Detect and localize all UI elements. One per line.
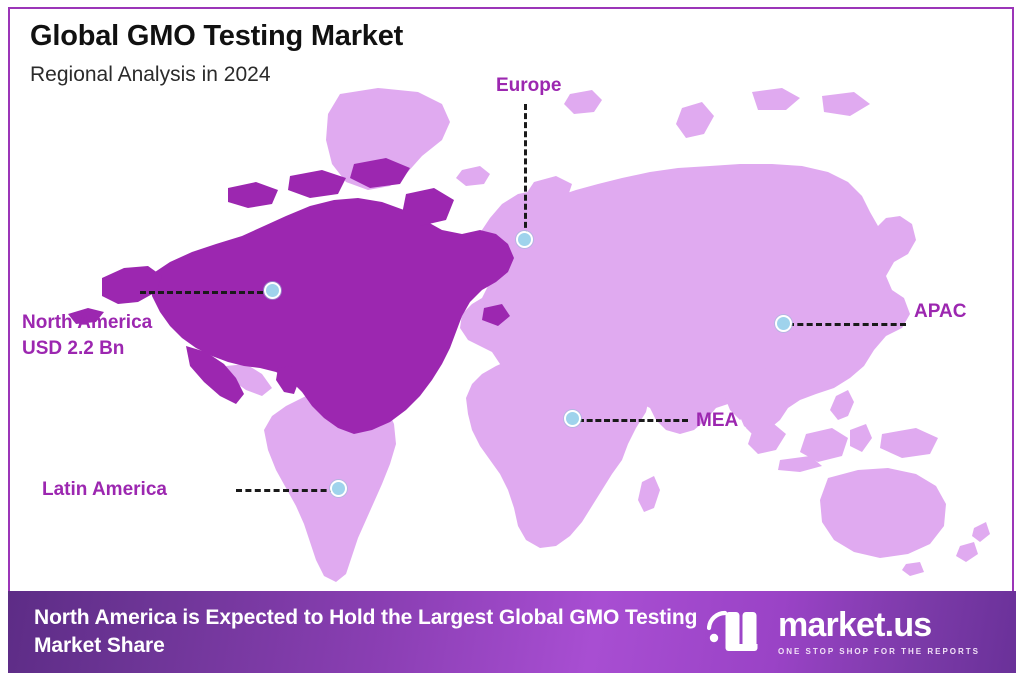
infographic-canvas: Global GMO Testing Market Regional Analy… [0, 0, 1024, 673]
map-landmass-highlight [68, 158, 514, 434]
landmass-africa [466, 354, 650, 548]
landmass-canada-arctic-2 [288, 170, 346, 198]
landmass-tasmania [902, 562, 924, 576]
region-label-north-america-text: North America [22, 310, 152, 336]
landmass-new-zealand-n [972, 522, 990, 542]
footer-banner: North America is Expected to Hold the La… [8, 591, 1016, 673]
region-label-mea-text: MEA [696, 410, 738, 431]
landmass-sulawesi [850, 424, 872, 452]
landmass-philippines [830, 390, 854, 420]
header: Global GMO Testing Market Regional Analy… [30, 20, 650, 87]
landmass-alaska [102, 266, 162, 304]
region-label-apac-text: APAC [914, 301, 966, 322]
map-marker-apac[interactable] [775, 315, 792, 332]
region-label-north-america: North America USD 2.2 Bn [22, 310, 152, 361]
world-map [10, 78, 1014, 590]
brand-logo-words: market.us ONE STOP SHOP FOR THE REPORTS [778, 608, 980, 656]
landmass-iceland [456, 166, 490, 186]
landmass-arctic-isles-2 [822, 92, 870, 116]
map-marker-europe[interactable] [516, 231, 533, 248]
footer-banner-text: North America is Expected to Hold the La… [34, 604, 707, 659]
landmass-canada-arctic-1 [228, 182, 278, 208]
region-label-latin-america: Latin America [42, 478, 167, 502]
landmass-novaya-zemlya [676, 102, 714, 138]
region-label-apac: APAC [914, 300, 966, 324]
landmass-svalbard [564, 90, 602, 114]
brand-logo[interactable]: market.us ONE STOP SHOP FOR THE REPORTS [707, 608, 980, 657]
landmass-new-guinea [880, 428, 938, 458]
bars-logo-icon [707, 608, 767, 657]
page-title: Global GMO Testing Market [30, 20, 650, 53]
landmass-australia [820, 468, 946, 558]
landmass-north-america [152, 198, 514, 434]
landmass-new-zealand-s [956, 542, 978, 562]
region-value-north-america: USD 2.2 Bn [22, 336, 152, 362]
brand-tagline: ONE STOP SHOP FOR THE REPORTS [778, 647, 980, 656]
region-label-mea: MEA [696, 409, 738, 433]
map-marker-north-america[interactable] [264, 282, 281, 299]
map-marker-latin-america[interactable] [330, 480, 347, 497]
map-marker-mea[interactable] [564, 410, 581, 427]
page-subtitle: Regional Analysis in 2024 [30, 63, 650, 87]
region-label-latin-america-text: Latin America [42, 479, 167, 500]
brand-name: market.us [778, 608, 931, 642]
landmass-arctic-isles-1 [752, 88, 800, 110]
landmass-madagascar [638, 476, 660, 512]
